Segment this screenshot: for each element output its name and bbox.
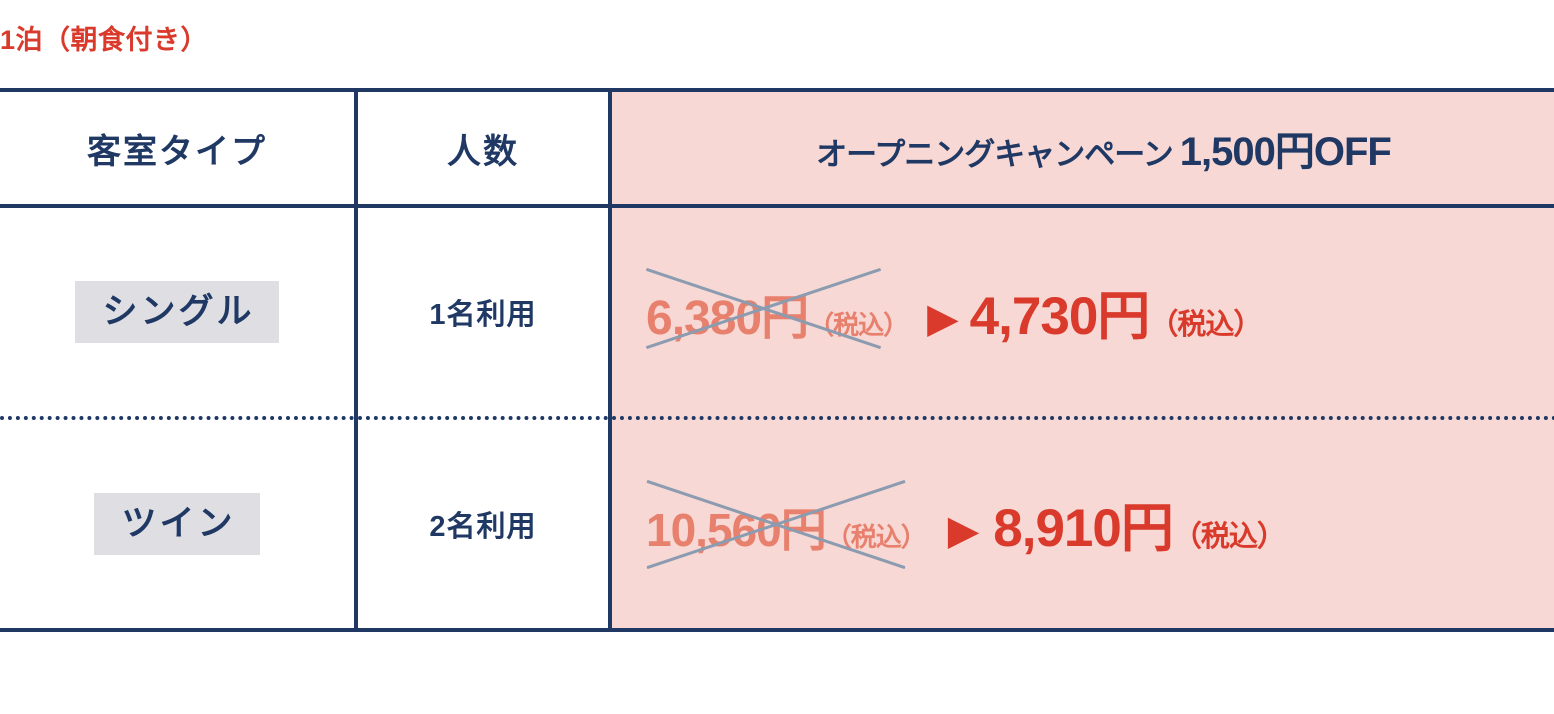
discounted-price-amount: 8,910円: [993, 486, 1173, 562]
cell-room-type: ツイン: [0, 418, 356, 630]
rate-table: 客室タイプ 人数 オープニングキャンペーン1,500円OFF シングル 1名利用…: [0, 88, 1554, 632]
original-price-tax-note: （税込）: [808, 305, 908, 342]
table-body: シングル 1名利用 6,380円 （税込） ▶ 4,730円: [0, 206, 1554, 630]
table-row: ツイン 2名利用 10,560円 （税込） ▶ 8,910円: [0, 418, 1554, 630]
guest-count-label: 1名利用: [429, 299, 536, 331]
column-header-guests: 人数: [356, 90, 610, 206]
cell-price: 10,560円 （税込） ▶ 8,910円 （税込）: [610, 418, 1554, 630]
table-header: 客室タイプ 人数 オープニングキャンペーン1,500円OFF: [0, 90, 1554, 206]
table-row: シングル 1名利用 6,380円 （税込） ▶ 4,730円: [0, 206, 1554, 418]
discounted-price-amount: 4,730円: [970, 274, 1150, 350]
discounted-price-tax-note: （税込）: [1149, 301, 1261, 343]
column-header-campaign: オープニングキャンペーン1,500円OFF: [610, 90, 1554, 206]
original-price-amount: 6,380円: [646, 278, 808, 348]
discounted-price: 4,730円 （税込）: [970, 274, 1262, 350]
campaign-discount-amount: 1,500円OFF: [1180, 130, 1391, 174]
cell-guest-count: 2名利用: [356, 418, 610, 630]
room-type-chip: シングル: [75, 281, 278, 344]
page-title: 1泊（朝食付き）: [0, 18, 208, 57]
cell-guest-count: 1名利用: [356, 206, 610, 418]
cell-price: 6,380円 （税込） ▶ 4,730円 （税込）: [610, 206, 1554, 418]
price-line: 10,560円 （税込） ▶ 8,910円 （税込）: [640, 486, 1554, 562]
discounted-price: 8,910円 （税込）: [993, 486, 1285, 562]
guest-count-label: 2名利用: [429, 511, 536, 543]
price-line: 6,380円 （税込） ▶ 4,730円 （税込）: [640, 274, 1554, 350]
original-price: 10,560円 （税込）: [640, 494, 932, 560]
original-price-tax-note: （税込）: [826, 517, 926, 554]
header-row: 客室タイプ 人数 オープニングキャンペーン1,500円OFF: [0, 90, 1554, 206]
column-header-room-type: 客室タイプ: [0, 90, 356, 206]
original-price-amount: 10,560円: [646, 494, 826, 560]
room-type-chip: ツイン: [94, 493, 259, 556]
discounted-price-tax-note: （税込）: [1173, 513, 1285, 555]
arrow-right-icon: ▶: [927, 298, 959, 339]
arrow-right-icon: ▶: [948, 510, 980, 551]
cell-room-type: シングル: [0, 206, 356, 418]
campaign-label: オープニングキャンペーン: [816, 137, 1173, 172]
original-price: 6,380円 （税込）: [640, 278, 914, 348]
